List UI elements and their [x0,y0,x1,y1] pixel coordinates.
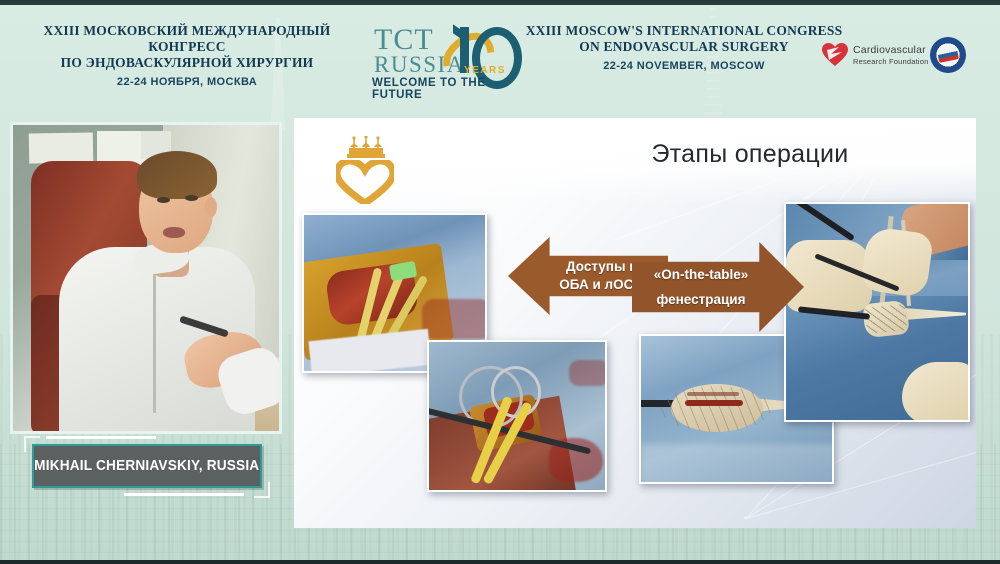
header-english-title-line2: ON ENDOVASCULAR SURGERY [524,39,844,55]
screen: XXIII МОСКОВСКИЙ МЕЖДУНАРОДНЫЙ КОНГРЕСС … [0,0,1000,564]
crf-name-line1: Cardiovascular [853,44,929,56]
banner-decor-line-bottom [124,493,244,496]
presentation-slide[interactable]: Этапы операции [294,118,976,528]
slide-title: Этапы операции [540,140,960,169]
arrow-left-line2: ОБА и лОСА [559,276,642,294]
arrow-right-line2: фенестрация [654,291,749,309]
congress-header: XXIII МОСКОВСКИЙ МЕЖДУНАРОДНЫЙ КОНГРЕСС … [0,5,1000,106]
header-english-block: XXIII MOSCOW'S INTERNATIONAL CONGRESS ON… [524,23,844,72]
tct-russia-logo: TCT RUSSIA YEARS WELCOME TO THE FUTURE [372,25,522,95]
video-wall-paper-1 [29,132,94,163]
video-speaker-ear [205,197,217,217]
photo-surgical-access-vessel-loops [427,340,607,492]
arrow-right-line1: «On-the-table» [654,266,749,284]
speaker-name-banner: MIKHAIL CHERNIAVSKIY, RUSSIA [12,434,280,500]
crf-heart-icon [822,43,848,67]
video-speaker-mouth [163,227,185,238]
header-russian-title-line2: ПО ЭНДОВАСКУЛЯРНОЙ ХИРУРГИИ [22,55,352,71]
russia-federal-emblem-icon [930,37,966,73]
video-speaker-eye-right [185,195,198,201]
golden-heart-icon [336,160,394,204]
speaker-name-box: MIKHAIL CHERNIAVSKIY, RUSSIA [32,444,262,488]
russian-flag-icon [937,47,959,63]
video-speaker-hair [137,151,217,199]
banner-decor-line-top [46,436,156,439]
header-russian-date: 22-24 НОЯБРЯ, МОСКВА [22,76,352,88]
arrow-left-line1: Доступы к [559,258,642,276]
bottom-edge-strip [0,560,1000,564]
crf-name-line2: Research Foundation [853,57,929,66]
header-english-date: 22-24 NOVEMBER, MOSCOW [524,60,844,72]
header-russian-title-line1: XXIII МОСКОВСКИЙ МЕЖДУНАРОДНЫЙ КОНГРЕСС [22,23,352,55]
tct-logo-tagline: WELCOME TO THE FUTURE [372,77,522,101]
speaker-name-text: MIKHAIL CHERNIAVSKIY, RUSSIA [34,458,259,474]
tct-logo-tct-text: TCT [374,25,434,55]
tct-logo-years-text: YEARS [464,65,506,76]
video-coat-seam [153,253,156,413]
photo-surgeons-fenestrating-stent [784,202,970,422]
almazov-crowned-heart-logo [334,136,394,202]
video-speaker-eye-left [157,197,170,203]
speaker-video-feed[interactable] [10,122,282,434]
header-english-title-line1: XXIII MOSCOW'S INTERNATIONAL CONGRESS [524,23,844,39]
header-russian-block: XXIII МОСКОВСКИЙ МЕЖДУНАРОДНЫЙ КОНГРЕСС … [22,23,352,88]
crown-with-ship-icon [346,136,386,160]
